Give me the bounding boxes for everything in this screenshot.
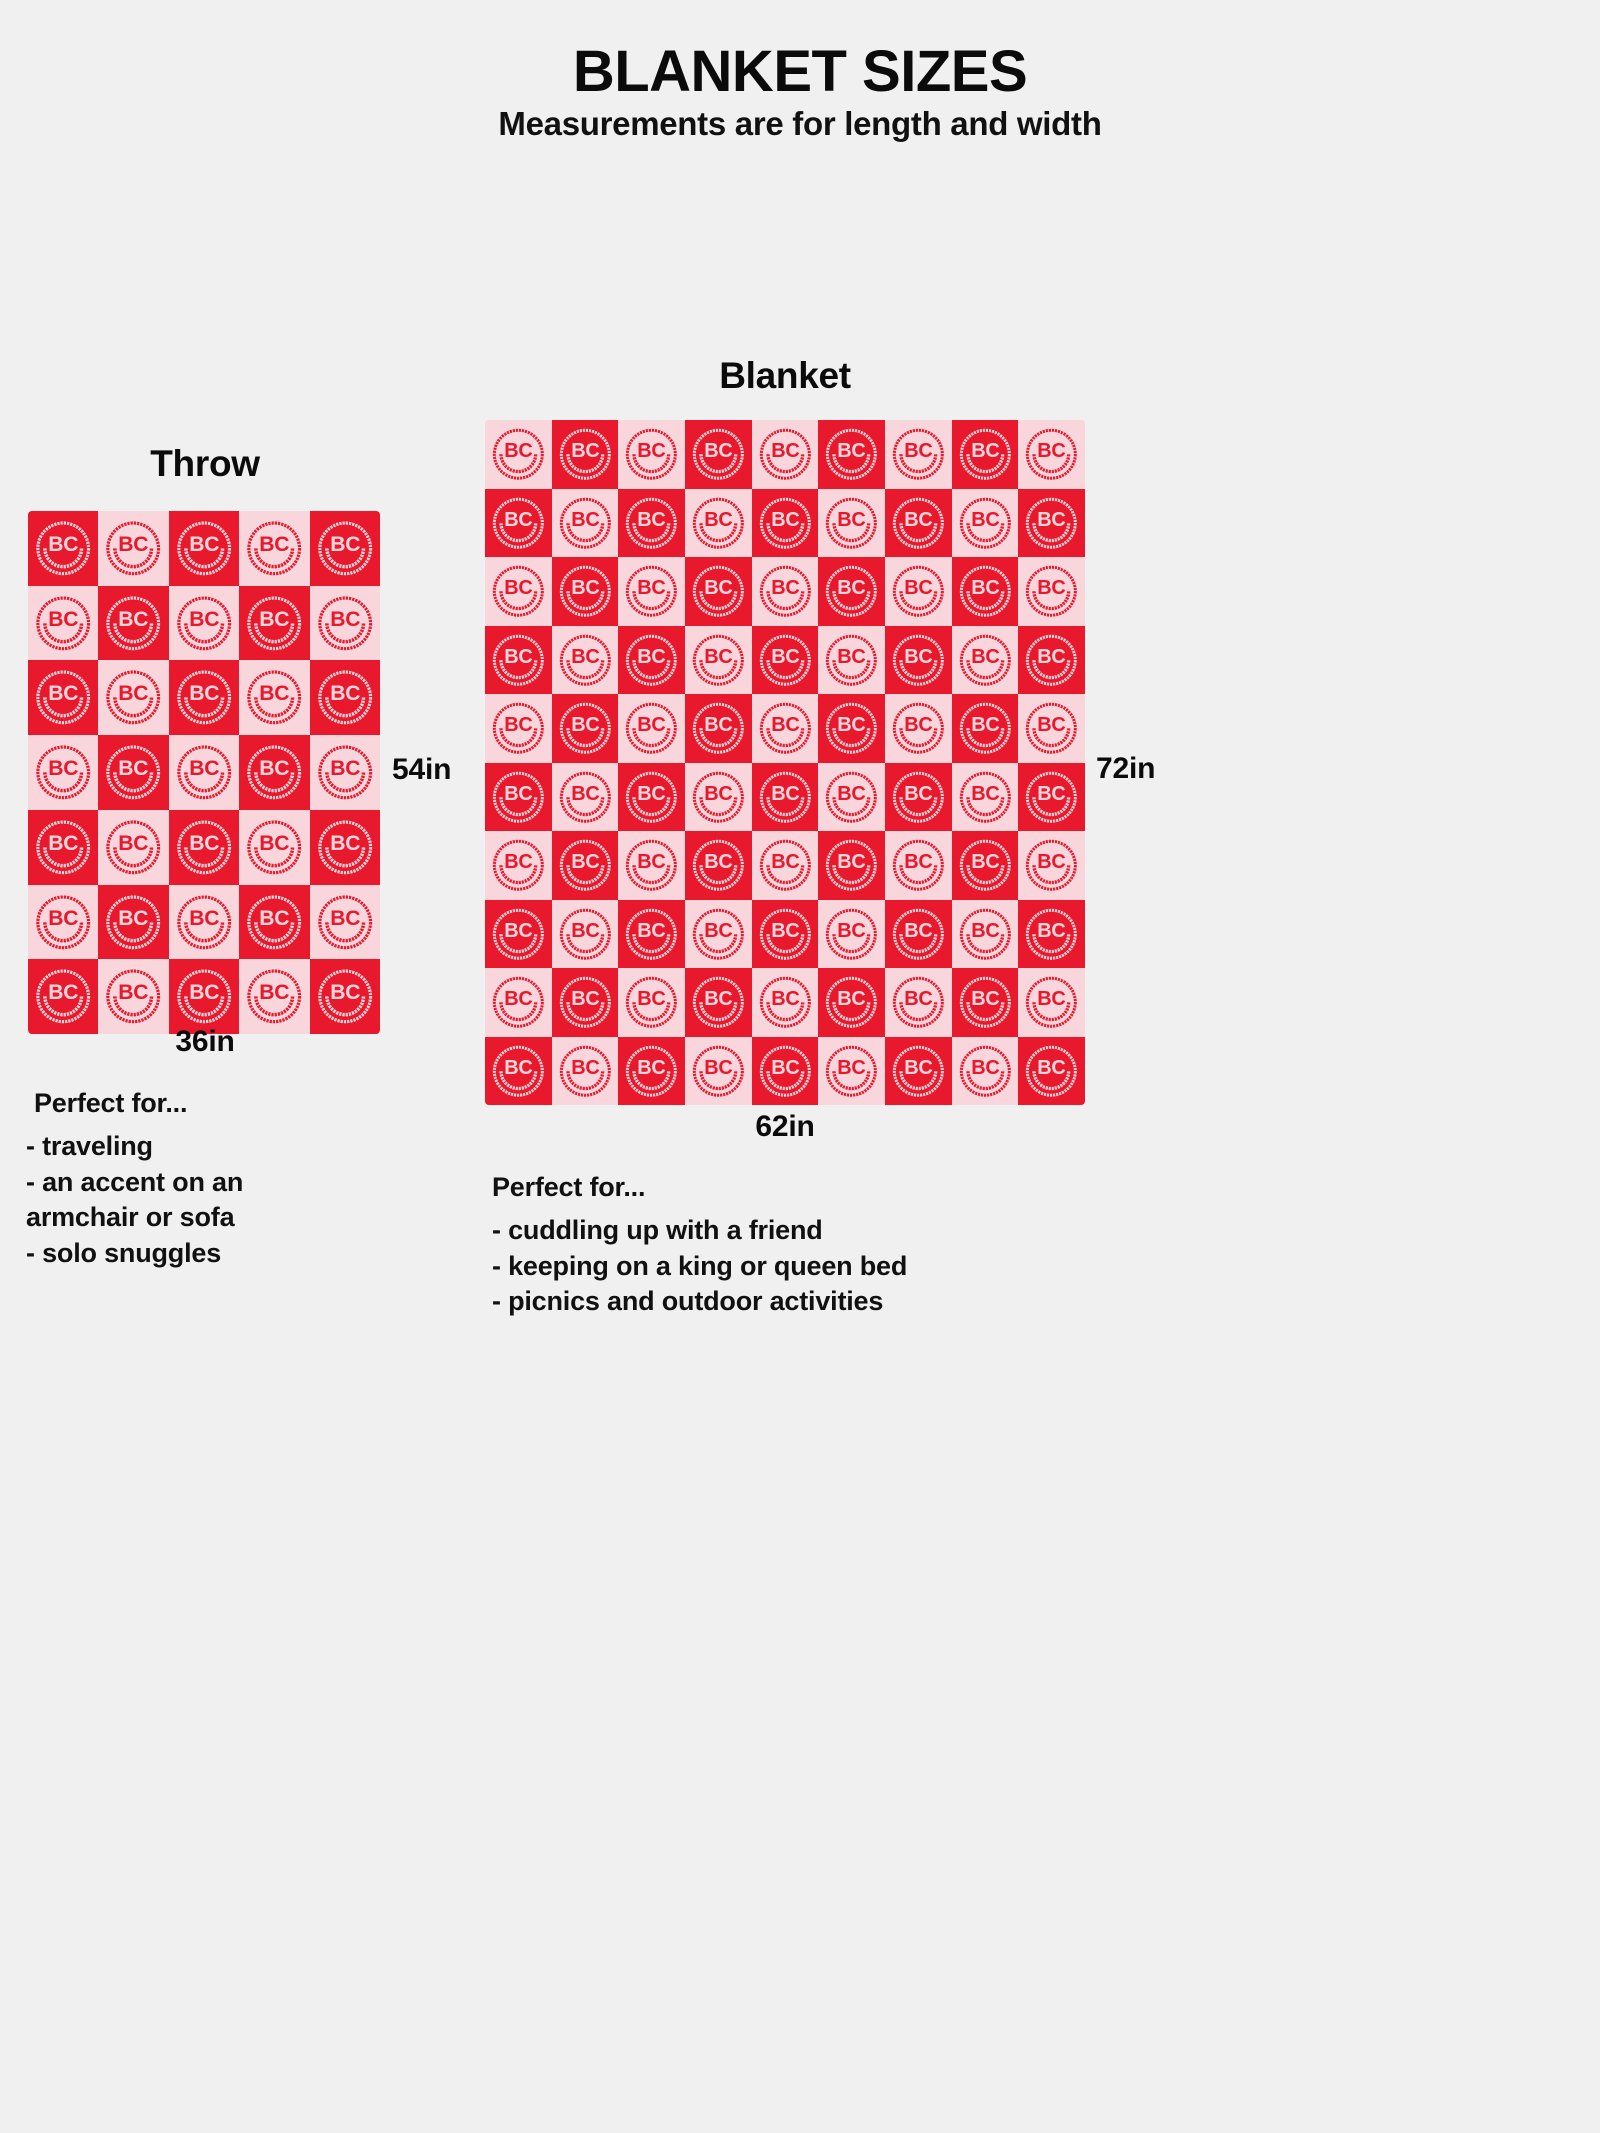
blanket-pattern-cell: BC xyxy=(169,511,239,586)
svg-text:BC: BC xyxy=(1038,1056,1066,1078)
blanket-pattern-cell: BC xyxy=(310,810,380,885)
svg-text:BC: BC xyxy=(904,919,932,941)
blanket-pattern-cell: BC xyxy=(552,694,619,763)
blanket-pattern-cell: BC xyxy=(618,626,685,695)
blanket-pattern-cell: BC xyxy=(239,735,309,810)
svg-text:BC: BC xyxy=(571,508,599,530)
blanket-pattern-cell: BC xyxy=(618,831,685,900)
blanket-copy-block: Perfect for... - cuddling up with a frie… xyxy=(492,1172,1052,1320)
svg-text:BC: BC xyxy=(571,577,599,599)
blanket-pattern-cell: BC xyxy=(952,626,1019,695)
blanket-pattern-cell: BC xyxy=(28,586,98,661)
page-title: BLANKET SIZES xyxy=(0,38,1600,105)
svg-text:BC: BC xyxy=(1038,851,1066,873)
svg-text:BC: BC xyxy=(838,851,866,873)
svg-text:BC: BC xyxy=(504,440,532,462)
blanket-pattern-cell: BC xyxy=(752,763,819,832)
blanket-pattern-cell: BC xyxy=(310,735,380,810)
blanket-pattern-cell: BC xyxy=(685,626,752,695)
blanket-pattern-cell: BC xyxy=(752,694,819,763)
blanket-pattern-cell: BC xyxy=(169,810,239,885)
blanket-pattern-cell: BC xyxy=(169,885,239,960)
svg-text:BC: BC xyxy=(638,508,666,530)
svg-text:BC: BC xyxy=(259,757,289,780)
copy-list-item: - traveling xyxy=(26,1129,356,1165)
blanket-pattern-cell: BC xyxy=(485,763,552,832)
blanket-pattern-cell: BC xyxy=(952,1037,1019,1106)
svg-text:BC: BC xyxy=(771,1056,799,1078)
svg-text:BC: BC xyxy=(971,782,999,804)
blanket-pattern-cell: BC xyxy=(310,511,380,586)
blanket-pattern-cell: BC xyxy=(485,831,552,900)
copy-list-item: - an accent on an xyxy=(26,1165,356,1201)
blanket-pattern-cell: BC xyxy=(685,763,752,832)
svg-text:BC: BC xyxy=(119,907,149,930)
svg-text:BC: BC xyxy=(571,782,599,804)
blanket-pattern-cell: BC xyxy=(752,831,819,900)
throw-height-label: 54in xyxy=(392,753,451,787)
blanket-pattern-cell: BC xyxy=(28,959,98,1034)
svg-text:BC: BC xyxy=(771,645,799,667)
blanket-pattern-cell: BC xyxy=(485,968,552,1037)
blanket-pattern-cell: BC xyxy=(818,694,885,763)
svg-text:BC: BC xyxy=(704,988,732,1010)
blanket-pattern-cell: BC xyxy=(485,900,552,969)
blanket-pattern-cell: BC xyxy=(818,420,885,489)
svg-text:BC: BC xyxy=(119,832,149,855)
blanket-pattern-cell: BC xyxy=(98,885,168,960)
svg-text:BC: BC xyxy=(330,757,360,780)
svg-text:BC: BC xyxy=(48,907,78,930)
svg-text:BC: BC xyxy=(259,533,289,556)
svg-text:BC: BC xyxy=(904,645,932,667)
blanket-pattern-cell: BC xyxy=(618,900,685,969)
blanket-pattern-cell: BC xyxy=(885,557,952,626)
page-subtitle: Measurements are for length and width xyxy=(0,105,1600,143)
svg-text:BC: BC xyxy=(571,645,599,667)
blanket-pattern-cell: BC xyxy=(239,885,309,960)
blanket-pattern-cell: BC xyxy=(885,694,952,763)
blanket-pattern-cell: BC xyxy=(818,1037,885,1106)
svg-text:BC: BC xyxy=(119,608,149,631)
svg-text:BC: BC xyxy=(1038,714,1066,736)
svg-text:BC: BC xyxy=(838,645,866,667)
blanket-pattern-cell: BC xyxy=(885,831,952,900)
svg-text:BC: BC xyxy=(971,577,999,599)
blanket-pattern-cell: BC xyxy=(98,586,168,661)
blanket-pattern-cell: BC xyxy=(552,489,619,558)
blanket-pattern-cell: BC xyxy=(752,557,819,626)
svg-text:BC: BC xyxy=(48,683,78,706)
svg-text:BC: BC xyxy=(571,714,599,736)
svg-text:BC: BC xyxy=(504,645,532,667)
copy-list-item: - solo snuggles xyxy=(26,1236,356,1272)
blanket-pattern-cell: BC xyxy=(618,420,685,489)
svg-text:BC: BC xyxy=(330,907,360,930)
throw-copy-heading: Perfect for... xyxy=(26,1088,356,1119)
svg-text:BC: BC xyxy=(971,645,999,667)
svg-text:BC: BC xyxy=(971,440,999,462)
blanket-pattern-cell: BC xyxy=(98,660,168,735)
svg-text:BC: BC xyxy=(189,832,219,855)
blanket-pattern-cell: BC xyxy=(310,660,380,735)
svg-text:BC: BC xyxy=(838,508,866,530)
blanket-pattern-cell: BC xyxy=(952,420,1019,489)
blanket-pattern-cell: BC xyxy=(818,626,885,695)
blanket-pattern-cell: BC xyxy=(552,968,619,1037)
blanket-pattern-cell: BC xyxy=(885,489,952,558)
blanket-pattern-cell: BC xyxy=(485,420,552,489)
blanket-pattern-cell: BC xyxy=(952,557,1019,626)
blanket-pattern-cell: BC xyxy=(818,900,885,969)
svg-text:BC: BC xyxy=(638,988,666,1010)
svg-text:BC: BC xyxy=(48,608,78,631)
blanket-pattern-cell: BC xyxy=(98,735,168,810)
blanket-pattern-cell: BC xyxy=(239,959,309,1034)
blanket-pattern-cell: BC xyxy=(552,900,619,969)
blanket-pattern-cell: BC xyxy=(685,968,752,1037)
svg-text:BC: BC xyxy=(189,608,219,631)
svg-text:BC: BC xyxy=(330,608,360,631)
svg-text:BC: BC xyxy=(971,1056,999,1078)
blanket-pattern-cell: BC xyxy=(28,511,98,586)
blanket-pattern-cell: BC xyxy=(885,626,952,695)
svg-text:BC: BC xyxy=(638,714,666,736)
svg-text:BC: BC xyxy=(1038,440,1066,462)
blanket-pattern-cell: BC xyxy=(885,968,952,1037)
svg-text:BC: BC xyxy=(119,533,149,556)
svg-text:BC: BC xyxy=(771,577,799,599)
svg-text:BC: BC xyxy=(1038,508,1066,530)
svg-text:BC: BC xyxy=(48,981,78,1004)
blanket-copy-heading: Perfect for... xyxy=(492,1172,1052,1203)
svg-text:BC: BC xyxy=(704,440,732,462)
blanket-pattern-cell: BC xyxy=(618,557,685,626)
blanket-pattern-cell: BC xyxy=(752,626,819,695)
svg-text:BC: BC xyxy=(904,440,932,462)
svg-text:BC: BC xyxy=(48,757,78,780)
copy-list-item: - cuddling up with a friend xyxy=(492,1213,1052,1249)
svg-text:BC: BC xyxy=(504,782,532,804)
svg-text:BC: BC xyxy=(704,1056,732,1078)
svg-text:BC: BC xyxy=(971,919,999,941)
blanket-pattern-cell: BC xyxy=(1018,557,1085,626)
svg-text:BC: BC xyxy=(48,533,78,556)
blanket-pattern-cell: BC xyxy=(818,489,885,558)
blanket-pattern-cell: BC xyxy=(239,586,309,661)
blanket-pattern-cell: BC xyxy=(818,763,885,832)
svg-text:BC: BC xyxy=(571,919,599,941)
throw-copy-block: Perfect for... - traveling- an accent on… xyxy=(26,1088,356,1272)
blanket-pattern-cell: BC xyxy=(685,420,752,489)
svg-text:BC: BC xyxy=(771,440,799,462)
svg-text:BC: BC xyxy=(189,533,219,556)
copy-list-item: - keeping on a king or queen bed xyxy=(492,1249,1052,1285)
blanket-pattern-cell: BC xyxy=(1018,763,1085,832)
blanket-pattern-cell: BC xyxy=(98,511,168,586)
blanket-pattern-cell: BC xyxy=(952,968,1019,1037)
svg-text:BC: BC xyxy=(330,533,360,556)
svg-text:BC: BC xyxy=(330,683,360,706)
blanket-pattern-cell: BC xyxy=(485,626,552,695)
blanket-pattern-cell: BC xyxy=(310,959,380,1034)
svg-text:BC: BC xyxy=(504,714,532,736)
svg-text:BC: BC xyxy=(704,714,732,736)
svg-text:BC: BC xyxy=(838,1056,866,1078)
blanket-pattern-cell: BC xyxy=(618,1037,685,1106)
blanket-pattern-cell: BC xyxy=(685,831,752,900)
blanket-height-label: 72in xyxy=(1096,752,1155,786)
blanket-pattern-cell: BC xyxy=(239,810,309,885)
blanket-pattern-cell: BC xyxy=(1018,489,1085,558)
svg-text:BC: BC xyxy=(259,608,289,631)
blanket-pattern-cell: BC xyxy=(618,694,685,763)
svg-text:BC: BC xyxy=(504,919,532,941)
svg-text:BC: BC xyxy=(971,851,999,873)
svg-text:BC: BC xyxy=(638,440,666,462)
blanket-pattern-cell: BC xyxy=(552,557,619,626)
blanket-pattern-cell: BC xyxy=(752,420,819,489)
svg-text:BC: BC xyxy=(904,508,932,530)
blanket-pattern-cell: BC xyxy=(239,660,309,735)
blanket-pattern-cell: BC xyxy=(28,660,98,735)
svg-text:BC: BC xyxy=(259,907,289,930)
svg-text:BC: BC xyxy=(971,714,999,736)
svg-text:BC: BC xyxy=(704,782,732,804)
svg-text:BC: BC xyxy=(904,782,932,804)
blanket-pattern-cell: BC xyxy=(1018,900,1085,969)
blanket-pattern-cell: BC xyxy=(28,735,98,810)
blanket-pattern-cell: BC xyxy=(685,1037,752,1106)
svg-text:BC: BC xyxy=(704,851,732,873)
blanket-pattern-cell: BC xyxy=(1018,968,1085,1037)
svg-text:BC: BC xyxy=(704,645,732,667)
blanket-pattern-cell: BC xyxy=(485,1037,552,1106)
svg-text:BC: BC xyxy=(189,757,219,780)
blanket-pattern-cell: BC xyxy=(1018,831,1085,900)
svg-text:BC: BC xyxy=(571,851,599,873)
blanket-pattern-cell: BC xyxy=(552,831,619,900)
svg-text:BC: BC xyxy=(838,440,866,462)
blanket-pattern-cell: BC xyxy=(752,968,819,1037)
svg-text:BC: BC xyxy=(571,988,599,1010)
blanket-pattern-cell: BC xyxy=(169,586,239,661)
blanket-pattern-cell: BC xyxy=(685,900,752,969)
throw-copy-list: - traveling- an accent on anarmchair or … xyxy=(26,1129,356,1272)
throw-heading: Throw xyxy=(60,443,350,485)
svg-text:BC: BC xyxy=(704,508,732,530)
svg-text:BC: BC xyxy=(259,981,289,1004)
blanket-pattern-cell: BC xyxy=(1018,420,1085,489)
blanket-pattern-cell: BC xyxy=(169,735,239,810)
svg-text:BC: BC xyxy=(119,981,149,1004)
blanket-blanket-swatch: BCBCBCBCBCBCBCBCBCBCBCBCBCBCBCBCBCBCBCBC… xyxy=(485,420,1085,1105)
blanket-copy-list: - cuddling up with a friend- keeping on … xyxy=(492,1213,1052,1320)
svg-text:BC: BC xyxy=(189,907,219,930)
svg-text:BC: BC xyxy=(638,645,666,667)
svg-text:BC: BC xyxy=(638,1056,666,1078)
svg-text:BC: BC xyxy=(330,981,360,1004)
blanket-pattern-cell: BC xyxy=(1018,1037,1085,1106)
blanket-pattern-cell: BC xyxy=(28,885,98,960)
blanket-pattern-cell: BC xyxy=(28,810,98,885)
svg-text:BC: BC xyxy=(504,577,532,599)
svg-text:BC: BC xyxy=(504,508,532,530)
blanket-width-label: 62in xyxy=(620,1110,950,1144)
svg-text:BC: BC xyxy=(771,851,799,873)
svg-text:BC: BC xyxy=(1038,988,1066,1010)
svg-text:BC: BC xyxy=(771,988,799,1010)
copy-list-item: - picnics and outdoor activities xyxy=(492,1284,1052,1320)
svg-text:BC: BC xyxy=(504,1056,532,1078)
svg-text:BC: BC xyxy=(971,988,999,1010)
svg-text:BC: BC xyxy=(904,1056,932,1078)
blanket-pattern-cell: BC xyxy=(552,626,619,695)
blanket-pattern-cell: BC xyxy=(552,1037,619,1106)
svg-text:BC: BC xyxy=(1038,645,1066,667)
svg-text:BC: BC xyxy=(638,851,666,873)
blanket-pattern-cell: BC xyxy=(952,489,1019,558)
svg-text:BC: BC xyxy=(1038,919,1066,941)
svg-text:BC: BC xyxy=(904,988,932,1010)
svg-text:BC: BC xyxy=(904,851,932,873)
svg-text:BC: BC xyxy=(259,832,289,855)
blanket-pattern-cell: BC xyxy=(885,763,952,832)
blanket-pattern-cell: BC xyxy=(618,489,685,558)
blanket-pattern-cell: BC xyxy=(310,885,380,960)
svg-text:BC: BC xyxy=(704,919,732,941)
blanket-pattern-cell: BC xyxy=(485,489,552,558)
svg-text:BC: BC xyxy=(904,714,932,736)
blanket-pattern-cell: BC xyxy=(1018,626,1085,695)
throw-blanket-swatch: BCBCBCBCBCBCBCBCBCBCBCBCBCBCBCBCBCBCBCBC… xyxy=(28,511,380,1034)
blanket-pattern-cell: BC xyxy=(169,959,239,1034)
blanket-pattern-cell: BC xyxy=(169,660,239,735)
blanket-pattern-cell: BC xyxy=(1018,694,1085,763)
svg-text:BC: BC xyxy=(771,919,799,941)
svg-text:BC: BC xyxy=(504,988,532,1010)
blanket-size-guide: BLANKET SIZES Measurements are for lengt… xyxy=(0,0,1600,2133)
blanket-pattern-cell: BC xyxy=(818,968,885,1037)
svg-text:BC: BC xyxy=(838,782,866,804)
blanket-pattern-cell: BC xyxy=(552,763,619,832)
blanket-pattern-cell: BC xyxy=(885,1037,952,1106)
svg-text:BC: BC xyxy=(119,683,149,706)
blanket-pattern-cell: BC xyxy=(685,557,752,626)
blanket-pattern-cell: BC xyxy=(485,557,552,626)
blanket-pattern-cell: BC xyxy=(752,1037,819,1106)
svg-text:BC: BC xyxy=(838,577,866,599)
svg-text:BC: BC xyxy=(638,919,666,941)
svg-text:BC: BC xyxy=(119,757,149,780)
svg-text:BC: BC xyxy=(189,683,219,706)
blanket-pattern-cell: BC xyxy=(685,489,752,558)
blanket-pattern-cell: BC xyxy=(98,959,168,1034)
blanket-pattern-cell: BC xyxy=(952,694,1019,763)
svg-text:BC: BC xyxy=(771,782,799,804)
svg-text:BC: BC xyxy=(638,782,666,804)
blanket-pattern-cell: BC xyxy=(818,557,885,626)
blanket-pattern-cell: BC xyxy=(818,831,885,900)
svg-text:BC: BC xyxy=(838,714,866,736)
svg-text:BC: BC xyxy=(189,981,219,1004)
svg-text:BC: BC xyxy=(771,508,799,530)
blanket-pattern-cell: BC xyxy=(685,694,752,763)
blanket-pattern-cell: BC xyxy=(98,810,168,885)
blanket-pattern-cell: BC xyxy=(618,968,685,1037)
blanket-pattern-cell: BC xyxy=(239,511,309,586)
svg-text:BC: BC xyxy=(48,832,78,855)
svg-text:BC: BC xyxy=(638,577,666,599)
blanket-pattern-cell: BC xyxy=(485,694,552,763)
blanket-pattern-cell: BC xyxy=(885,900,952,969)
blanket-pattern-cell: BC xyxy=(952,900,1019,969)
svg-text:BC: BC xyxy=(330,832,360,855)
svg-text:BC: BC xyxy=(259,683,289,706)
blanket-heading: Blanket xyxy=(640,355,930,397)
blanket-pattern-cell: BC xyxy=(752,489,819,558)
svg-text:BC: BC xyxy=(571,1056,599,1078)
blanket-pattern-cell: BC xyxy=(952,763,1019,832)
svg-text:BC: BC xyxy=(704,577,732,599)
copy-list-item: armchair or sofa xyxy=(26,1200,356,1236)
blanket-pattern-cell: BC xyxy=(885,420,952,489)
svg-text:BC: BC xyxy=(838,988,866,1010)
blanket-pattern-cell: BC xyxy=(310,586,380,661)
svg-text:BC: BC xyxy=(771,714,799,736)
blanket-pattern-cell: BC xyxy=(952,831,1019,900)
svg-text:BC: BC xyxy=(971,508,999,530)
svg-text:BC: BC xyxy=(838,919,866,941)
svg-text:BC: BC xyxy=(1038,577,1066,599)
throw-width-label: 36in xyxy=(60,1025,350,1059)
blanket-pattern-cell: BC xyxy=(752,900,819,969)
blanket-pattern-cell: BC xyxy=(618,763,685,832)
blanket-pattern-cell: BC xyxy=(552,420,619,489)
svg-text:BC: BC xyxy=(904,577,932,599)
svg-text:BC: BC xyxy=(1038,782,1066,804)
svg-text:BC: BC xyxy=(504,851,532,873)
svg-text:BC: BC xyxy=(571,440,599,462)
